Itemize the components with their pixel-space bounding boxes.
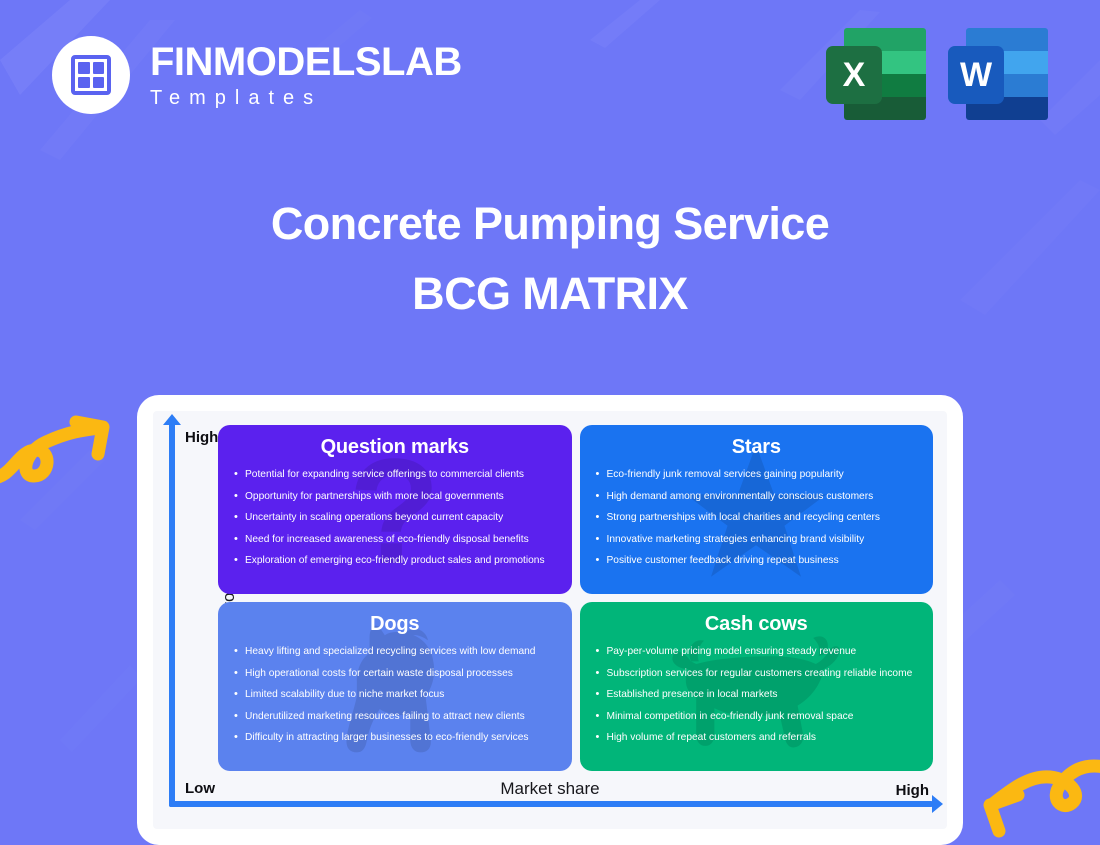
list-item: Difficulty in attracting larger business…	[232, 731, 558, 744]
list-item: Limited scalability due to niche market …	[232, 688, 558, 701]
list-item: Exploration of emerging eco-friendly pro…	[232, 554, 558, 567]
quadrant-question-marks[interactable]: ? Question marks Potential for expanding…	[218, 425, 572, 594]
quadrant-bullet-list: Pay-per-volume pricing model ensuring st…	[594, 645, 920, 744]
list-item: Strong partnerships with local charities…	[594, 511, 920, 524]
squiggle-arrow-down-left-icon	[966, 745, 1100, 845]
brand-subtitle: Templates	[150, 88, 462, 108]
quadrant-title: Dogs	[232, 613, 558, 636]
list-item: Need for increased awareness of eco-frie…	[232, 533, 558, 546]
quadrant-stars[interactable]: Stars Eco-friendly junk removal services…	[580, 425, 934, 594]
word-icon[interactable]: W	[948, 28, 1048, 126]
y-axis-arrow	[169, 423, 175, 807]
quadrant-title: Stars	[594, 436, 920, 459]
list-item: High volume of repeat customers and refe…	[594, 731, 920, 744]
squiggle-arrow-up-right-icon	[0, 400, 120, 495]
quadrant-bullet-list: Heavy lifting and specialized recycling …	[232, 645, 558, 744]
list-item: Potential for expanding service offering…	[232, 468, 558, 481]
list-item: Established presence in local markets	[594, 688, 920, 701]
list-item: Eco-friendly junk removal services gaini…	[594, 468, 920, 481]
list-item: Opportunity for partnerships with more l…	[232, 490, 558, 503]
page-title-line-1: Concrete Pumping Service	[0, 196, 1100, 252]
x-axis-arrow	[169, 801, 933, 807]
list-item: Innovative marketing strategies enhancin…	[594, 533, 920, 546]
quadrant-bullet-list: Potential for expanding service offering…	[232, 468, 558, 567]
format-icons: X W	[826, 28, 1048, 126]
bcg-matrix-panel: High Low Market growth Market share High…	[153, 411, 947, 829]
list-item: High demand among environmentally consci…	[594, 490, 920, 503]
list-item: Pay-per-volume pricing model ensuring st…	[594, 645, 920, 658]
list-item: Heavy lifting and specialized recycling …	[232, 645, 558, 658]
quadrant-grid: ? Question marks Potential for expanding…	[218, 425, 933, 771]
quadrant-dogs[interactable]: Dogs Heavy lifting and specialized recyc…	[218, 602, 572, 771]
page-title-line-2: BCG MATRIX	[0, 266, 1100, 322]
excel-icon-letter: X	[826, 46, 882, 104]
list-item: Uncertainty in scaling operations beyond…	[232, 511, 558, 524]
y-axis-high-label: High	[185, 429, 218, 446]
x-axis-label: Market share	[153, 779, 947, 799]
quadrant-bullet-list: Eco-friendly junk removal services gaini…	[594, 468, 920, 567]
list-item: Subscription services for regular custom…	[594, 667, 920, 680]
brand-name: FINMODELSLAB	[150, 42, 462, 82]
list-item: Positive customer feedback driving repea…	[594, 554, 920, 567]
grid-square-icon	[52, 36, 130, 114]
list-item: Minimal competition in eco-friendly junk…	[594, 710, 920, 723]
x-axis-high-label: High	[896, 782, 929, 799]
list-item: High operational costs for certain waste…	[232, 667, 558, 680]
quadrant-cash-cows[interactable]: Cash cows Pay-per-volume pricing model e…	[580, 602, 934, 771]
quadrant-title: Question marks	[232, 436, 558, 459]
quadrant-title: Cash cows	[594, 613, 920, 636]
bcg-matrix-card: High Low Market growth Market share High…	[137, 395, 963, 845]
page-title: Concrete Pumping Service BCG MATRIX	[0, 196, 1100, 323]
excel-icon[interactable]: X	[826, 28, 926, 126]
word-icon-letter: W	[948, 46, 1004, 104]
brand-logo: FINMODELSLAB Templates	[52, 36, 462, 114]
list-item: Underutilized marketing resources failin…	[232, 710, 558, 723]
page-header: FINMODELSLAB Templates X W	[0, 0, 1100, 150]
